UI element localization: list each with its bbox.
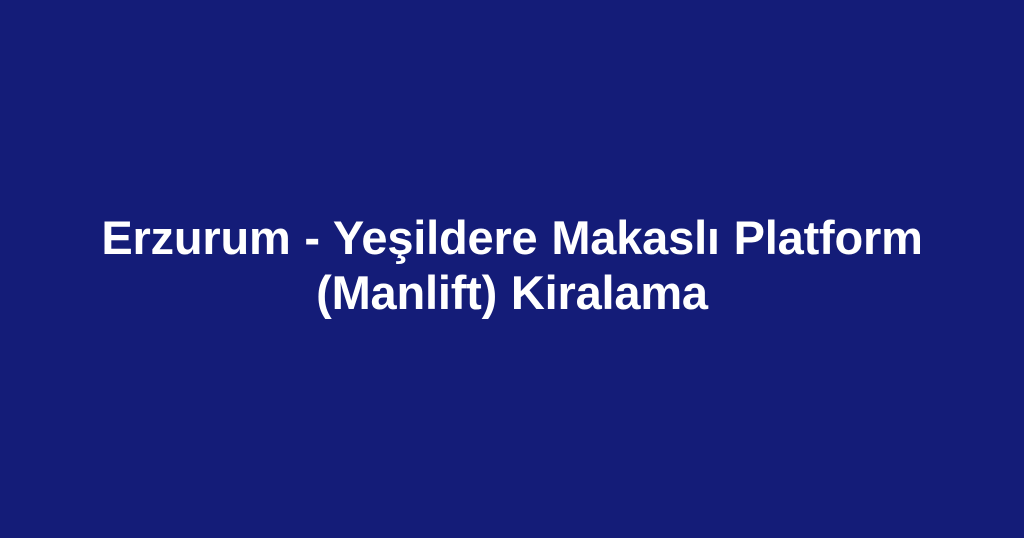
title-block: Erzurum - Yeşildere Makaslı Platform (Ma… bbox=[82, 210, 942, 320]
page-title: Erzurum - Yeşildere Makaslı Platform (Ma… bbox=[94, 210, 930, 320]
open-graph-preview-card: Erzurum - Yeşildere Makaslı Platform (Ma… bbox=[0, 0, 1024, 538]
